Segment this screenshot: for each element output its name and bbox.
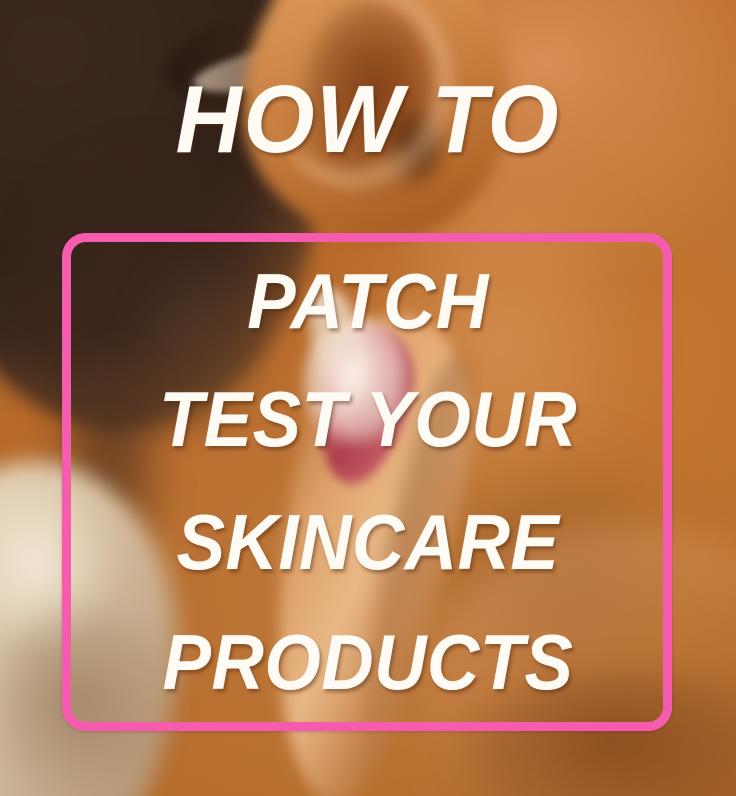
pinterest-graphic: HOW TO PATCH TEST YOUR SKINCARE PRODUCTS	[0, 0, 736, 796]
headline-line-3: SKINCARE	[26, 505, 710, 579]
kicker-text: HOW TO	[18, 74, 717, 165]
headline-line-4: PRODUCTS	[26, 625, 710, 699]
headline-line-2: TEST YOUR	[26, 382, 710, 456]
headline-line-1: PATCH	[26, 264, 710, 338]
